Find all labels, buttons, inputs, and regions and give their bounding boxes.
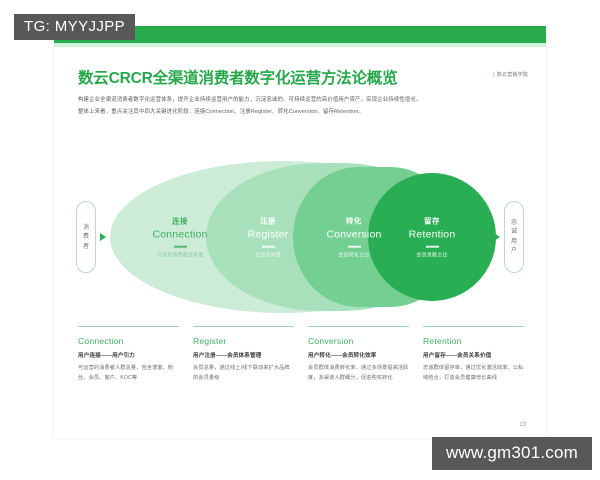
detail-columns: Connection 用户连接——用户引力 可运营的消费者人群总量，包含潜客、粉…: [78, 326, 524, 383]
capsule-consumer-char-2: 者: [83, 244, 89, 250]
page-number: 13: [519, 422, 526, 428]
capsule-consumer-char-1: 费: [83, 234, 89, 240]
slide-card: 数云CRCR全渠道消费者数字化运营方法论概览 |数云营销学院 构建企业全渠道消费…: [54, 26, 546, 438]
screenshot-root: TG: MYYJJPP 数云CRCR全渠道消费者数字化运营方法论概览 |数云营销…: [0, 0, 600, 480]
capsule-loyal-user: 忠 诚 用 户: [504, 201, 524, 273]
header-accent-bar-light: [54, 43, 546, 47]
column-title-conversion: Conversion: [308, 336, 409, 346]
column-body-retention: 忠诚群体留存率，通过优化激活效率、公私域结合，打造会员健康增长曲线: [423, 364, 524, 383]
column-subtitle-connection: 用户连接——用户引力: [78, 351, 179, 359]
stage-en-retention: Retention: [377, 229, 487, 241]
capsule-consumer: 消 费 者: [76, 201, 96, 273]
arrow-right-icon-right: [494, 233, 500, 241]
column-body-conversion: 会员群体消费转化率，通过多场景提高活跃度，多渠道人群细分，促进购买转化: [308, 364, 409, 383]
brand-logo: |数云营销学院: [493, 71, 528, 78]
stage-sub-retention: 会员贡献占比: [377, 251, 487, 258]
lead-paragraph: 构建企业全渠道消费者数字化运营体系，提开企业持续运营用户的能力，沉淀忠诚的、可持…: [78, 94, 522, 118]
site-watermark: www.gm301.com: [432, 437, 592, 470]
column-subtitle-conversion: 用户转化——会员转化效率: [308, 351, 409, 359]
stage-divider-retention: [426, 246, 439, 248]
brand-label: 数云营销学院: [497, 72, 528, 78]
column-title-retention: Retention: [423, 336, 524, 346]
stage-label-retention: 留存 Retention 会员贡献占比: [377, 216, 487, 259]
column-subtitle-retention: 用户留存——会员关系价值: [423, 351, 524, 359]
column-rule-connection: [78, 326, 179, 327]
arrow-right-icon-left: [100, 233, 106, 241]
column-body-register: 会员总量，通过线上/线下联动来扩大品牌的会员量级: [193, 364, 294, 383]
detail-column-register: Register 用户注册——会员体系管理 会员总量，通过线上/线下联动来扩大品…: [193, 326, 294, 383]
column-rule-conversion: [308, 326, 409, 327]
telegram-watermark-tag: TG: MYYJJPP: [14, 14, 135, 40]
page-title: 数云CRCR全渠道消费者数字化运营方法论概览: [78, 66, 528, 88]
lead-line-1: 构建企业全渠道消费者数字化运营体系，提开企业持续运营用户的能力，沉淀忠诚的、可持…: [78, 94, 522, 106]
column-title-connection: Connection: [78, 336, 179, 346]
stage-cn-retention: 留存: [377, 216, 487, 227]
column-rule-register: [193, 326, 294, 327]
stage-divider-connection: [174, 246, 187, 248]
stage-divider-register: [262, 246, 275, 248]
slide-header: 数云CRCR全渠道消费者数字化运营方法论概览 |数云营销学院: [78, 66, 528, 88]
column-title-register: Register: [193, 336, 294, 346]
capsule-loyal-char-3: 户: [511, 248, 517, 254]
capsule-loyal-char-0: 忠: [511, 220, 517, 226]
capsule-consumer-char-0: 消: [83, 225, 89, 231]
capsule-loyal-char-2: 用: [511, 239, 517, 245]
column-rule-retention: [423, 326, 524, 327]
detail-column-connection: Connection 用户连接——用户引力 可运营的消费者人群总量，包含潜客、粉…: [78, 326, 179, 383]
stage-divider-conversion: [348, 246, 361, 248]
column-body-connection: 可运营的消费者人群总量，包含潜客、粉丝、会员、客户、KOC等: [78, 364, 179, 383]
capsule-loyal-char-1: 诚: [511, 229, 517, 235]
detail-column-retention: Retention 用户留存——会员关系价值 忠诚群体留存率，通过优化激活效率、…: [423, 326, 524, 383]
detail-column-conversion: Conversion 用户转化——会员转化效率 会员群体消费转化率，通过多场景提…: [308, 326, 409, 383]
funnel-diagram: 消 费 者 连接 Connection 可运营消费者总体量 注册 Registe…: [76, 158, 524, 316]
column-subtitle-register: 用户注册——会员体系管理: [193, 351, 294, 359]
brand-tick: |: [493, 72, 495, 78]
lead-line-2: 整体上来看，重点关注其中四大关键进化阶段：连接Connection、注册Regi…: [78, 106, 522, 118]
